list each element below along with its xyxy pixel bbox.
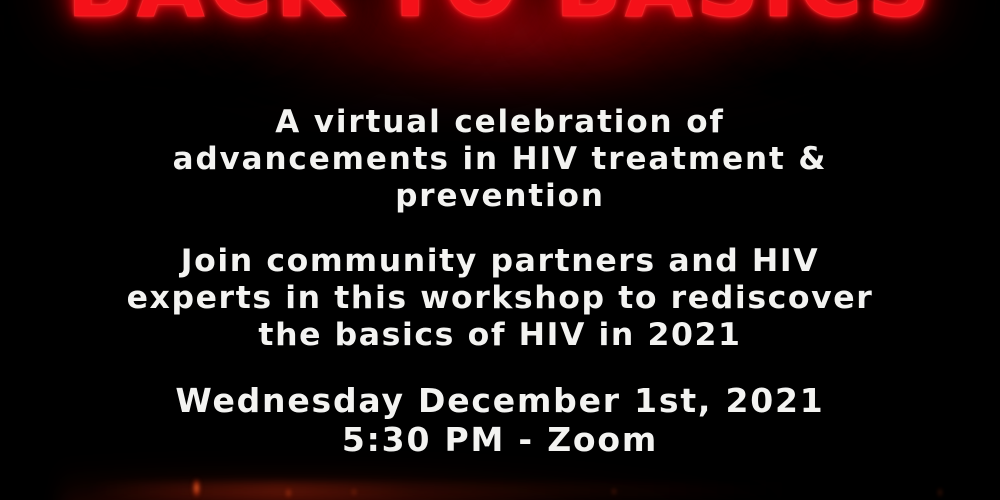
invitation-line-1: Join community partners and HIV <box>0 243 1000 280</box>
invitation-line-2: experts in this workshop to rediscover <box>0 280 1000 317</box>
ember-light-2 <box>286 488 291 498</box>
floor-light-streak <box>90 482 790 498</box>
ember-light-4 <box>612 488 616 495</box>
poster-image: BACK TO BASICS A virtual celebration of … <box>0 0 1000 500</box>
ember-light-1 <box>193 479 200 497</box>
description-line-3: prevention <box>0 178 1000 215</box>
description-line-2: advancements in HIV treatment & <box>0 141 1000 178</box>
event-details-block: Wednesday December 1st, 2021 5:30 PM - Z… <box>0 381 1000 459</box>
ember-light-3 <box>352 488 356 496</box>
ember-light-5 <box>938 488 942 497</box>
poster-headline: BACK TO BASICS <box>0 0 1000 30</box>
event-date: Wednesday December 1st, 2021 <box>0 381 1000 420</box>
description-line-1: A virtual celebration of <box>0 104 1000 141</box>
event-time-platform: 5:30 PM - Zoom <box>0 420 1000 459</box>
invitation-line-3: the basics of HIV in 2021 <box>0 317 1000 354</box>
invitation-block: Join community partners and HIV experts … <box>0 243 1000 354</box>
description-block: A virtual celebration of advancements in… <box>0 104 1000 215</box>
